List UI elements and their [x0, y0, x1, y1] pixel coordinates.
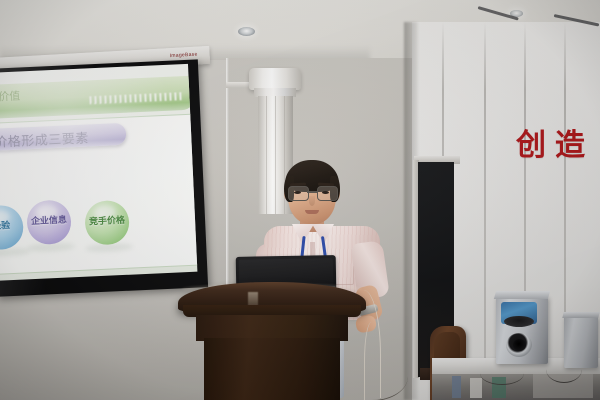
column-capital — [249, 68, 301, 90]
presentation-photo: ImageBase 顾客的价值 顾客价格形成三要素 经验 企业信息 竞手价格 — [0, 0, 600, 400]
nose — [309, 196, 315, 206]
dark-cable — [336, 352, 408, 400]
computer-subwoofer — [496, 296, 548, 364]
speaker-grill — [504, 316, 534, 327]
ceiling-light-icon — [238, 27, 255, 36]
slide-header-band: 顾客的价值 — [0, 76, 196, 120]
projection-screen: 顾客的价值 顾客价格形成三要素 经验 企业信息 竞手价格 — [0, 59, 208, 296]
under-shelf-item-1 — [452, 376, 461, 398]
under-shelf-item-2 — [470, 378, 482, 398]
eye-right — [322, 191, 329, 194]
slide-header-text: 顾客的价值 — [0, 87, 21, 105]
bubble-competitor-price-label: 竞手价格 — [89, 217, 125, 228]
mouth — [305, 210, 319, 214]
bubble-company-info-label: 企业信息 — [31, 217, 67, 228]
speaker-cable-1 — [546, 356, 582, 383]
bubble-experience-label: 经验 — [0, 222, 10, 232]
screen-brand-label: ImageBase — [169, 52, 197, 60]
presentation-slide: 顾客的价值 顾客价格形成三要素 经验 企业信息 竞手价格 — [0, 64, 197, 281]
slide-header-sparkle — [89, 92, 181, 104]
podium-base — [204, 338, 340, 400]
eye-left — [294, 191, 301, 194]
speaker-woofer-icon — [506, 333, 532, 357]
speaker-cable-2 — [480, 362, 524, 385]
wall-banner-text: 创造 — [516, 120, 594, 164]
